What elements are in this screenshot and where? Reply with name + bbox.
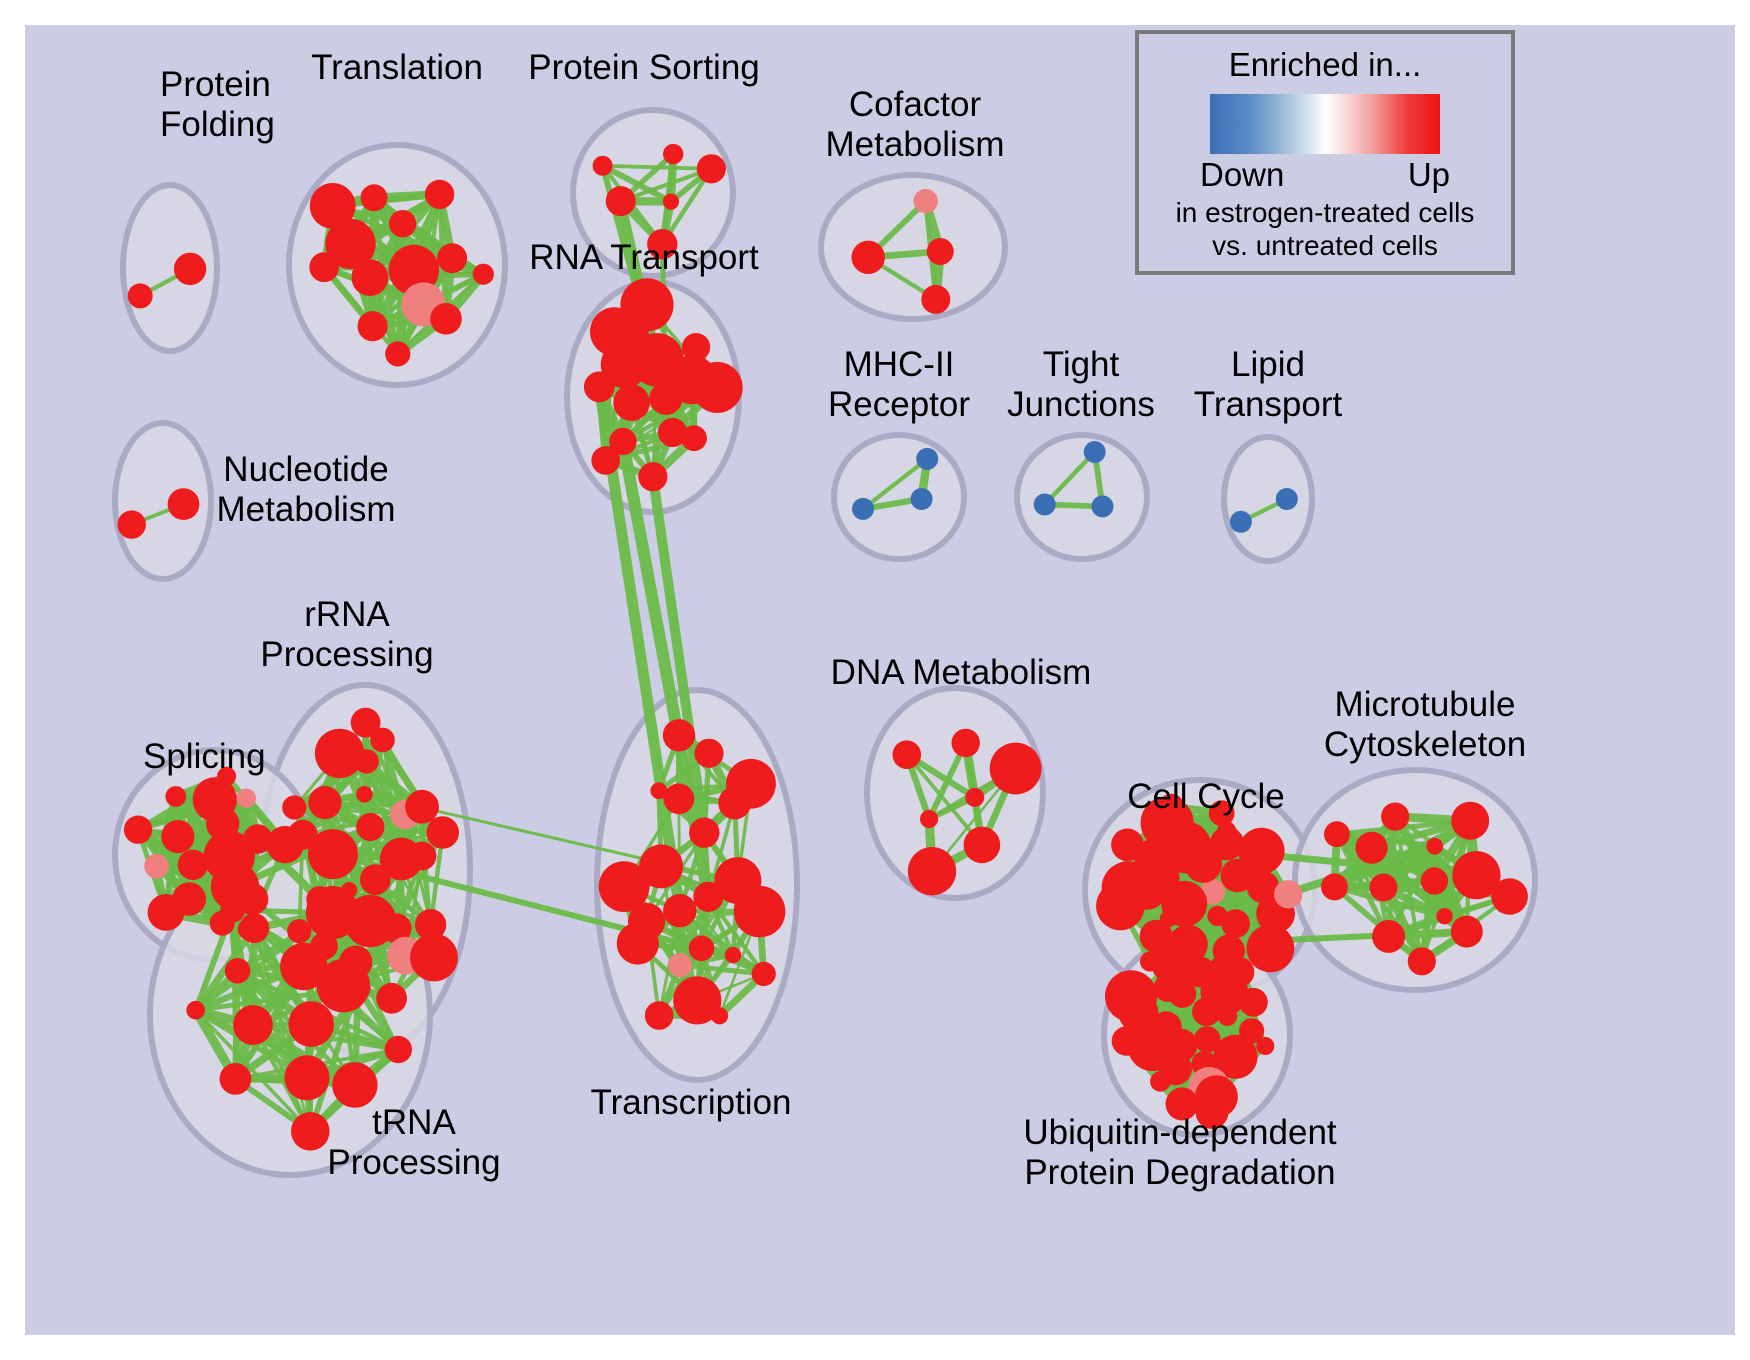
network-node[interactable] — [1238, 828, 1284, 874]
network-node[interactable] — [351, 708, 381, 738]
cluster-label-protein-folding: ProteinFolding — [160, 65, 275, 145]
network-node[interactable] — [285, 1055, 330, 1100]
network-node[interactable] — [1381, 803, 1409, 831]
network-node[interactable] — [725, 947, 741, 963]
network-node[interactable] — [606, 186, 636, 216]
network-node[interactable] — [697, 154, 726, 183]
legend-up-label: Up — [1408, 156, 1450, 194]
network-node[interactable] — [144, 854, 169, 879]
network-node[interactable] — [681, 425, 707, 451]
network-canvas: ProteinFoldingTranslationProtein Sorting… — [25, 25, 1735, 1335]
cluster-label-cell-cycle: Cell Cycle — [1127, 777, 1285, 817]
cluster-hull — [1017, 435, 1147, 559]
cluster-label-microtubule-cytoskeleton: MicrotubuleCytoskeleton — [1324, 685, 1526, 765]
cluster-label-tight-junctions: TightJunctions — [1007, 345, 1155, 425]
network-node[interactable] — [711, 1007, 728, 1024]
network-node[interactable] — [1224, 957, 1254, 987]
network-node[interactable] — [1491, 878, 1528, 915]
network-node[interactable] — [225, 958, 251, 984]
network-node[interactable] — [908, 847, 956, 895]
network-node[interactable] — [240, 913, 270, 943]
cluster-label-protein-sorting: Protein Sorting — [528, 48, 760, 88]
figure-root: ProteinFoldingTranslationProtein Sorting… — [0, 0, 1750, 1360]
network-node[interactable] — [620, 278, 673, 331]
network-node[interactable] — [990, 743, 1042, 795]
network-node[interactable] — [356, 786, 373, 803]
network-node[interactable] — [288, 1001, 334, 1047]
network-node[interactable] — [1408, 947, 1436, 975]
network-node[interactable] — [426, 816, 459, 849]
network-node[interactable] — [689, 818, 719, 848]
cluster-label-splicing: Splicing — [143, 737, 266, 777]
network-node[interactable] — [118, 510, 146, 538]
network-node[interactable] — [692, 362, 743, 413]
legend-down-label: Down — [1200, 156, 1284, 194]
network-node[interactable] — [1356, 832, 1388, 864]
network-node[interactable] — [920, 810, 938, 828]
network-node[interactable] — [385, 1036, 412, 1063]
legend-colorbar — [1210, 94, 1440, 154]
network-node[interactable] — [1239, 988, 1268, 1017]
network-node[interactable] — [430, 303, 462, 335]
legend-subtitle-line2: vs. untreated cells — [1139, 229, 1511, 262]
network-node[interactable] — [599, 861, 650, 912]
network-node[interactable] — [1034, 494, 1056, 516]
network-node[interactable] — [473, 264, 494, 285]
network-node[interactable] — [408, 842, 437, 871]
network-node[interactable] — [1230, 511, 1252, 533]
network-node[interactable] — [1421, 867, 1448, 894]
network-node[interactable] — [165, 786, 186, 807]
network-node[interactable] — [1111, 829, 1144, 862]
network-node[interactable] — [914, 189, 938, 213]
legend-title: Enriched in... — [1139, 46, 1511, 84]
cluster-label-nucleotide-metabolism: NucleotideMetabolism — [217, 450, 396, 530]
cluster-label-transcription: Transcription — [591, 1083, 792, 1123]
network-node[interactable] — [617, 922, 659, 964]
network-node[interactable] — [927, 238, 954, 265]
cluster-hull — [821, 175, 1005, 319]
network-node[interactable] — [161, 820, 194, 853]
network-node[interactable] — [1096, 882, 1145, 931]
network-node[interactable] — [952, 729, 980, 757]
network-node[interactable] — [233, 1005, 273, 1045]
network-node[interactable] — [178, 850, 208, 880]
network-node[interactable] — [694, 739, 723, 768]
network-node[interactable] — [1321, 873, 1348, 900]
network-node[interactable] — [1084, 441, 1106, 463]
network-node[interactable] — [356, 813, 384, 841]
network-node[interactable] — [584, 372, 615, 403]
network-node[interactable] — [726, 759, 776, 809]
network-node[interactable] — [650, 782, 667, 799]
network-node[interactable] — [921, 285, 950, 314]
network-node[interactable] — [752, 962, 776, 986]
network-node[interactable] — [1324, 821, 1350, 847]
cluster-label-lipid-transport: LipidTransport — [1194, 345, 1342, 425]
network-node[interactable] — [645, 1001, 674, 1030]
network-node[interactable] — [1150, 1071, 1170, 1091]
network-node[interactable] — [385, 341, 410, 366]
network-node[interactable] — [663, 894, 696, 927]
network-node[interactable] — [911, 488, 933, 510]
network-node[interactable] — [591, 446, 620, 475]
cluster-label-rna-transport: RNA Transport — [529, 238, 759, 278]
network-node[interactable] — [405, 790, 439, 824]
network-node[interactable] — [852, 241, 885, 274]
network-node[interactable] — [296, 950, 324, 978]
network-node[interactable] — [682, 333, 710, 361]
cluster-hull — [834, 435, 964, 559]
network-node[interactable] — [1221, 909, 1250, 938]
network-node[interactable] — [148, 894, 185, 931]
cluster-label-rrna-processing: rRNAProcessing — [260, 595, 433, 675]
network-node[interactable] — [309, 252, 339, 282]
network-node[interactable] — [1092, 495, 1114, 517]
network-node[interactable] — [663, 194, 679, 210]
network-node[interactable] — [361, 184, 388, 211]
network-node[interactable] — [638, 462, 667, 491]
network-node[interactable] — [266, 826, 303, 863]
cluster-label-mhc-ii-receptor: MHC-IIReceptor — [828, 345, 970, 425]
network-node[interactable] — [237, 789, 256, 808]
network-node[interactable] — [287, 919, 311, 943]
network-node[interactable] — [1276, 488, 1298, 510]
network-node[interactable] — [1256, 1037, 1274, 1055]
network-node[interactable] — [376, 983, 407, 1014]
network-node[interactable] — [310, 183, 356, 229]
network-node[interactable] — [358, 311, 388, 341]
network-node[interactable] — [964, 827, 1001, 864]
network-node[interactable] — [593, 156, 613, 176]
legend-subtitle-line1: in estrogen-treated cells — [1139, 196, 1511, 229]
network-node[interactable] — [168, 488, 200, 520]
network-node[interactable] — [613, 384, 650, 421]
network-node[interactable] — [1247, 924, 1295, 972]
network-node[interactable] — [332, 1062, 377, 1107]
network-node[interactable] — [1154, 943, 1200, 989]
network-node[interactable] — [689, 936, 715, 962]
network-node[interactable] — [1112, 1026, 1142, 1056]
network-node[interactable] — [1372, 920, 1405, 953]
cluster-label-dna-metabolism: DNA Metabolism — [831, 653, 1092, 693]
network-node[interactable] — [852, 498, 874, 520]
network-node[interactable] — [1426, 838, 1443, 855]
network-node[interactable] — [345, 975, 371, 1001]
network-node[interactable] — [306, 886, 359, 939]
network-node[interactable] — [124, 816, 152, 844]
network-node[interactable] — [315, 729, 364, 778]
cluster-label-translation: Translation — [311, 48, 483, 88]
network-node[interactable] — [174, 253, 206, 285]
network-node[interactable] — [663, 783, 694, 814]
network-node[interactable] — [220, 898, 245, 923]
network-node[interactable] — [1105, 970, 1157, 1022]
network-node[interactable] — [965, 788, 984, 807]
network-node[interactable] — [291, 1112, 330, 1151]
network-node[interactable] — [389, 210, 416, 237]
network-node[interactable] — [1436, 908, 1452, 924]
cluster-label-cofactor-metabolism: CofactorMetabolism — [826, 85, 1005, 165]
network-node[interactable] — [308, 786, 341, 819]
network-node[interactable] — [410, 934, 458, 982]
network-node[interactable] — [668, 953, 692, 977]
network-node[interactable] — [437, 243, 467, 273]
network-node[interactable] — [282, 795, 306, 819]
network-node[interactable] — [1274, 880, 1302, 908]
network-node[interactable] — [1451, 802, 1489, 840]
network-node[interactable] — [1451, 916, 1483, 948]
network-node[interactable] — [663, 144, 683, 164]
network-node[interactable] — [734, 886, 786, 938]
network-node[interactable] — [425, 180, 454, 209]
network-node[interactable] — [186, 1001, 205, 1020]
network-node[interactable] — [893, 740, 922, 769]
network-node[interactable] — [128, 283, 153, 308]
cluster-hull — [1224, 437, 1312, 561]
network-node[interactable] — [1370, 874, 1398, 902]
cluster-label-trna-processing: tRNAProcessing — [327, 1103, 500, 1183]
network-node[interactable] — [663, 719, 695, 751]
legend-box: Enriched in... Down Up in estrogen-treat… — [1135, 30, 1515, 275]
network-node[interactable] — [220, 1063, 252, 1095]
network-node[interactable] — [916, 448, 938, 470]
cluster-label-ubiquitin-degradation: Ubiquitin-dependentProtein Degradation — [1023, 1113, 1336, 1193]
